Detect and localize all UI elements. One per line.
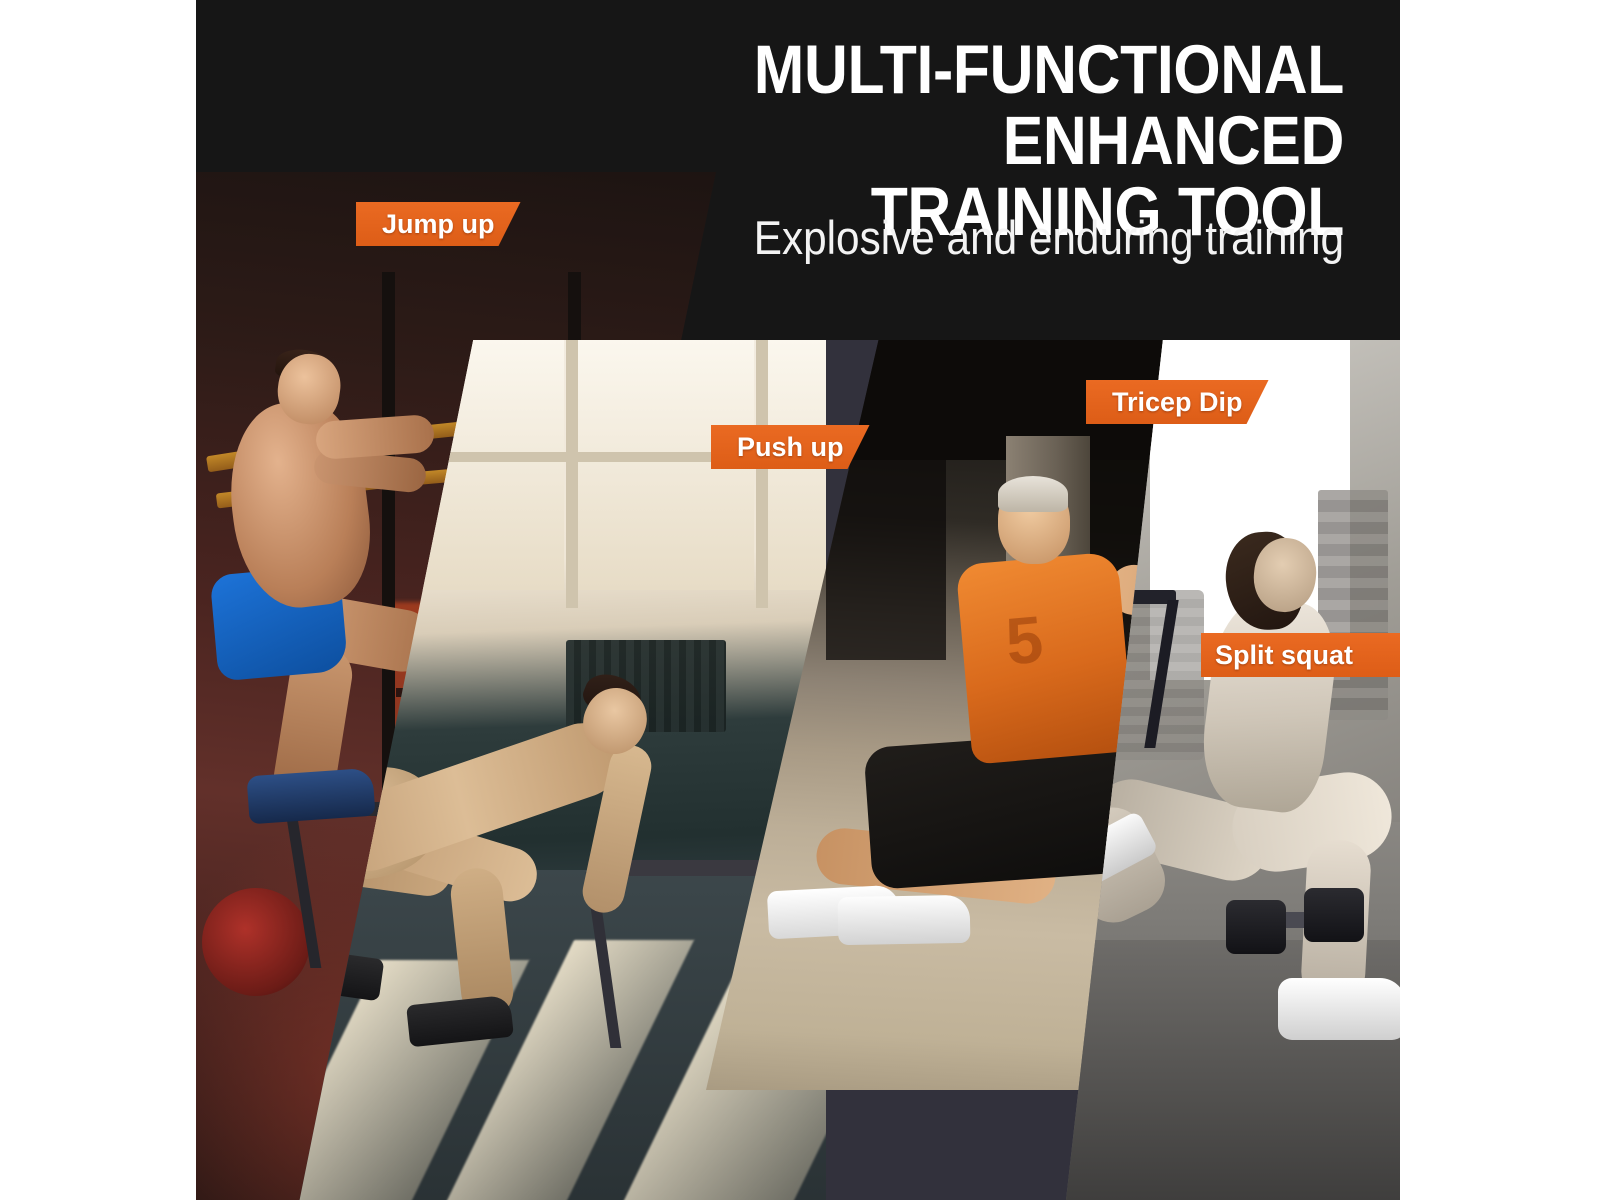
badge-push-up-label: Push up bbox=[711, 425, 870, 469]
badge-split-squat-label: Split squat bbox=[1201, 633, 1400, 677]
athlete-arm bbox=[315, 414, 435, 460]
window-mullion bbox=[566, 340, 578, 608]
product-banner: MULTI-FUNCTIONAL ENHANCED TRAINING TOOL … bbox=[0, 0, 1600, 1200]
headline-line-1: MULTI-FUNCTIONAL ENHANCED bbox=[499, 34, 1344, 176]
plyo-box-leg bbox=[1144, 600, 1178, 748]
dumbbell bbox=[1304, 888, 1364, 942]
banner-canvas: MULTI-FUNCTIONAL ENHANCED TRAINING TOOL … bbox=[196, 0, 1400, 1200]
badge-split-squat: Split squat bbox=[1201, 633, 1400, 677]
athlete-shoe-front bbox=[1278, 978, 1400, 1040]
athlete-tank-top bbox=[956, 551, 1135, 764]
badge-push-up: Push up bbox=[711, 425, 870, 469]
window-mullion bbox=[756, 340, 768, 608]
badge-tricep-dip-label: Tricep Dip bbox=[1086, 380, 1269, 424]
dumbbell bbox=[1226, 900, 1286, 954]
badge-jump-up: Jump up bbox=[356, 202, 521, 246]
jersey-number: 5 bbox=[1003, 601, 1046, 680]
badge-tricep-dip: Tricep Dip bbox=[1086, 380, 1269, 424]
badge-jump-up-label: Jump up bbox=[356, 202, 521, 246]
background-opening bbox=[826, 460, 946, 660]
athlete-hair bbox=[998, 476, 1068, 512]
athlete-shoe bbox=[838, 895, 971, 945]
athlete-shoe bbox=[246, 768, 375, 825]
